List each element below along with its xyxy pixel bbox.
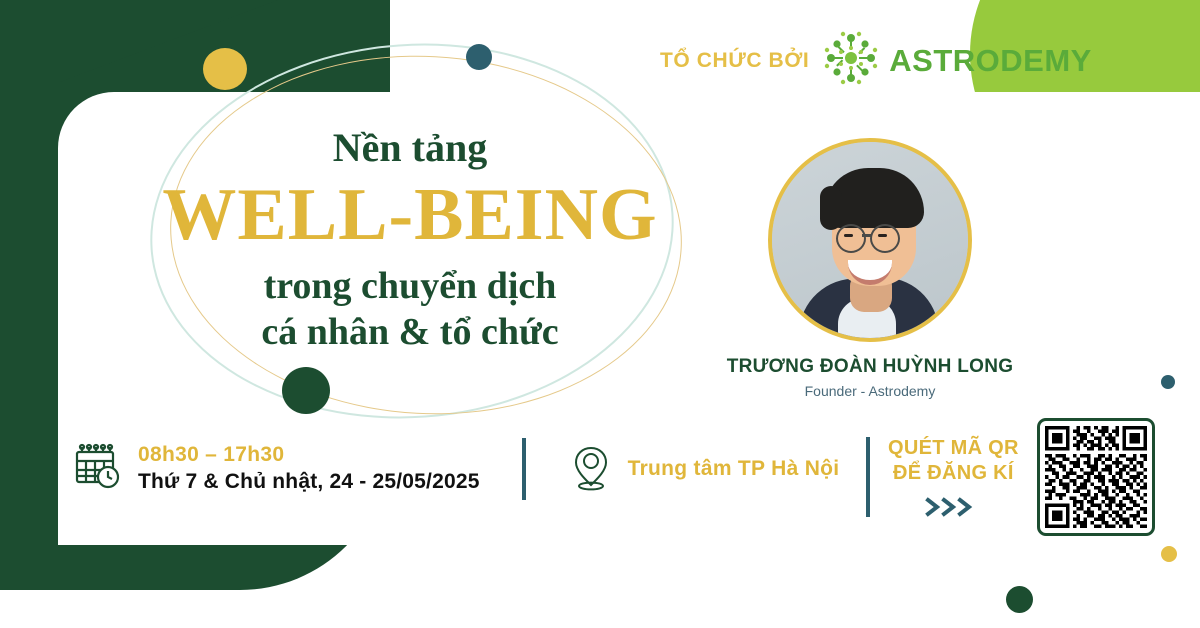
qr-cta-line-2: ĐỂ ĐĂNG KÍ — [888, 461, 1019, 486]
schedule-text: 08h30 – 17h30 Thứ 7 & Chủ nhật, 24 - 25/… — [138, 442, 480, 496]
calendar-clock-icon — [70, 440, 124, 499]
dark-green-wedge-shape — [60, 0, 310, 82]
triple-chevron-right-icon — [888, 496, 1019, 518]
white-fill-mask — [390, 520, 1200, 628]
qr-code-icon[interactable] — [1037, 418, 1155, 536]
brand-name: ASTRODEMY — [889, 43, 1092, 79]
headline-line-1: Nền tảng — [130, 126, 690, 170]
location-block: Trung tâm TP Hà Nội — [568, 442, 840, 497]
headline-block: Nền tảng WELL-BEING trong chuyển dịch cá… — [130, 126, 690, 356]
schedule-date: Thứ 7 & Chủ nhật, 24 - 25/05/2025 — [138, 469, 480, 496]
gold-dot-small — [1161, 546, 1177, 562]
map-pin-icon — [568, 442, 614, 497]
portrait-glasses-left — [836, 224, 866, 253]
green-dot-small — [1006, 586, 1033, 613]
schedule-block: 08h30 – 17h30 Thứ 7 & Chủ nhật, 24 - 25/… — [70, 440, 480, 499]
qr-registration-block[interactable]: QUÉT MÃ QR ĐỂ ĐĂNG KÍ — [866, 418, 1155, 536]
speaker-block: TRƯƠNG ĐOÀN HUỲNH LONG Founder - Astrode… — [700, 138, 1040, 399]
speaker-name: TRƯƠNG ĐOÀN HUỲNH LONG — [700, 356, 1040, 378]
teal-dot-medium — [466, 44, 492, 70]
portrait-hair-side — [820, 186, 842, 230]
astrodemy-network-logo-icon — [823, 30, 879, 91]
location-text: Trung tâm TP Hà Nội — [628, 457, 840, 481]
organizer-label: TỔ CHỨC BỞI — [660, 49, 809, 73]
speaker-portrait — [768, 138, 972, 342]
green-dot-large — [282, 367, 330, 414]
info-divider — [522, 438, 526, 500]
speaker-role: Founder - Astrodemy — [700, 383, 1040, 399]
qr-cta-line-1: QUÉT MÃ QR — [888, 436, 1019, 461]
organizer-header: TỔ CHỨC BỞI — [660, 30, 1092, 91]
teal-dot-small — [1161, 375, 1175, 389]
headline-main: WELL-BEING — [130, 174, 690, 257]
portrait-glasses-right — [870, 224, 900, 253]
gold-dot-large — [203, 48, 247, 90]
portrait-eye-left — [844, 234, 853, 237]
schedule-time: 08h30 – 17h30 — [138, 442, 480, 469]
event-banner: TỔ CHỨC BỞI — [0, 0, 1200, 628]
qr-divider — [866, 437, 870, 517]
portrait-eye-right — [878, 234, 887, 237]
portrait-glasses-bridge — [862, 234, 871, 237]
qr-call-to-action: QUÉT MÃ QR ĐỂ ĐĂNG KÍ — [888, 436, 1019, 518]
brand-lockup: ASTRODEMY — [823, 30, 1092, 91]
headline-line-4: cá nhân & tổ chức — [130, 309, 690, 355]
event-info-row: 08h30 – 17h30 Thứ 7 & Chủ nhật, 24 - 25/… — [70, 438, 839, 500]
headline-line-3: trong chuyển dịch — [130, 263, 690, 309]
